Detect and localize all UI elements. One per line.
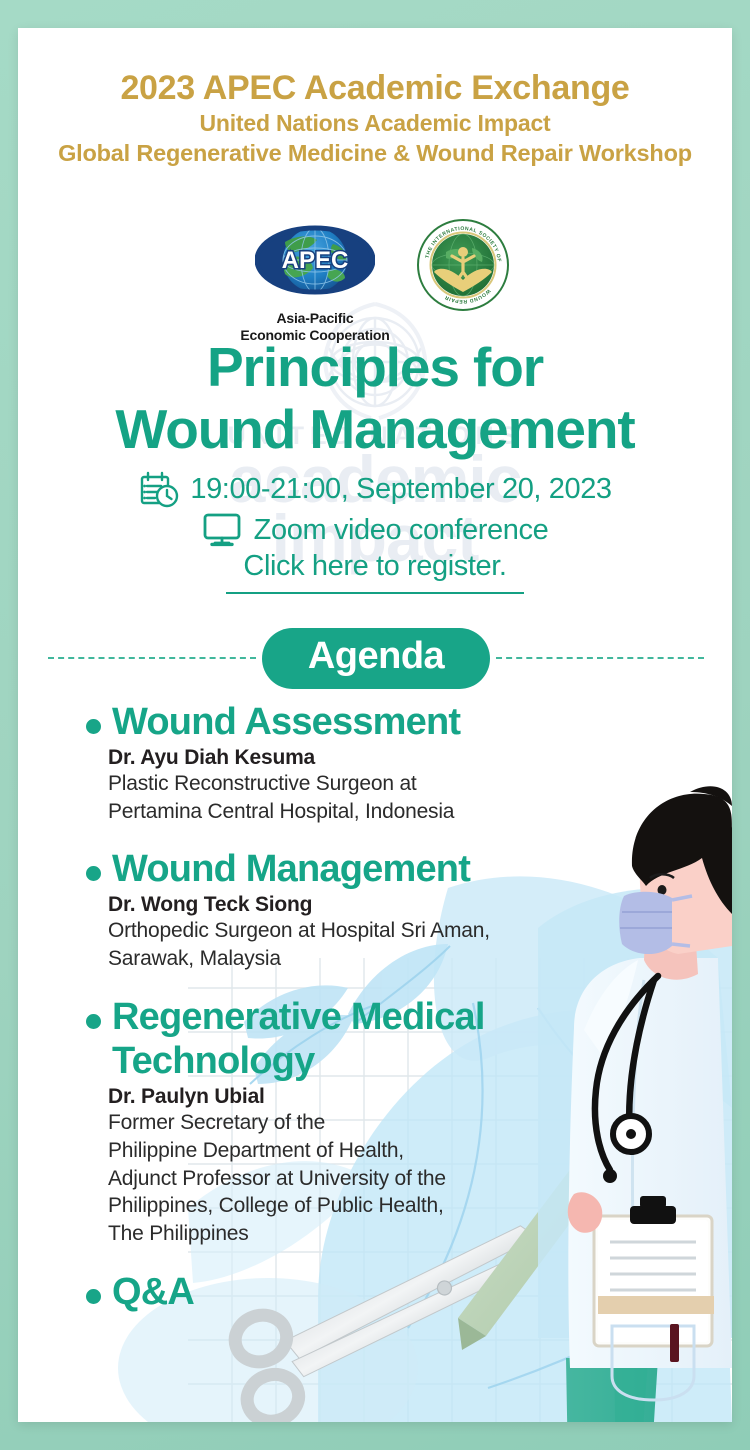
agenda-item-title: Wound Management <box>112 847 470 892</box>
apec-caption-line-1: Asia-Pacific <box>240 310 389 327</box>
speaker-role: Pertamina Central Hospital, Indonesia <box>108 798 712 826</box>
isrmwr-logo: THE INTERNATIONAL SOCIETY OF REGENERATIV… <box>416 218 510 317</box>
agenda-divider: Agenda <box>18 628 732 689</box>
event-subtitle-2: Global Regenerative Medicine & Wound Rep… <box>18 138 732 168</box>
bullet-icon <box>86 866 101 881</box>
speaker-role: The Philippines <box>108 1220 712 1248</box>
agenda-item: Q&A <box>18 1270 732 1315</box>
bullet-icon <box>86 1289 101 1304</box>
agenda-item-title: Regenerative Medical Technology <box>112 995 592 1085</box>
speaker-name: Dr. Wong Teck Siong <box>108 893 712 917</box>
speaker-role: Former Secretary of the <box>108 1109 712 1137</box>
speaker-role: Orthopedic Surgeon at Hospital Sri Aman, <box>108 917 712 945</box>
agenda-item-title: Q&A <box>112 1270 194 1315</box>
speaker-role: Plastic Reconstructive Surgeon at <box>108 770 712 798</box>
agenda-item-title: Wound Assessment <box>112 700 460 745</box>
agenda-item: Wound Assessment Dr. Ayu Diah Kesuma Pla… <box>18 700 732 825</box>
page-title: Principles for Wound Management <box>18 336 732 460</box>
event-datetime: 19:00-21:00, September 20, 2023 <box>190 473 611 506</box>
main-title-line-2: Wound Management <box>18 398 732 460</box>
dashed-line-right <box>496 657 704 659</box>
main-title-line-1: Principles for <box>18 336 732 398</box>
agenda-item: Regenerative Medical Technology Dr. Paul… <box>18 995 732 1248</box>
datetime-row: 19:00-21:00, September 20, 2023 <box>18 468 732 510</box>
apec-globe-icon: APEC <box>255 218 375 302</box>
event-meta: 19:00-21:00, September 20, 2023 Zoom vid… <box>18 468 732 594</box>
speaker-role: Philippine Department of Health, <box>108 1137 712 1165</box>
svg-text:APEC: APEC <box>282 247 349 274</box>
speaker-role: Adjunct Professor at University of the <box>108 1165 712 1193</box>
speaker-name: Dr. Paulyn Ubial <box>108 1085 712 1109</box>
event-platform: Zoom video conference <box>254 514 549 547</box>
event-subtitle-1: United Nations Academic Impact <box>18 109 732 138</box>
bullet-icon <box>86 719 101 734</box>
calendar-clock-icon <box>138 468 180 510</box>
speaker-role: Sarawak, Malaysia <box>108 945 712 973</box>
platform-row: Zoom video conference <box>18 512 732 548</box>
dashed-line-left <box>48 657 256 659</box>
monitor-icon <box>202 512 244 548</box>
poster-root: UNITED NATIONS academic impact 2023 APEC… <box>0 0 750 1450</box>
agenda-badge: Agenda <box>262 628 490 689</box>
isrmwr-seal-icon: THE INTERNATIONAL SOCIETY OF REGENERATIV… <box>416 218 510 312</box>
event-title: 2023 APEC Academic Exchange <box>18 68 732 109</box>
agenda-list: Wound Assessment Dr. Ayu Diah Kesuma Pla… <box>18 700 732 1337</box>
speaker-name: Dr. Ayu Diah Kesuma <box>108 746 712 770</box>
poster-card: UNITED NATIONS academic impact 2023 APEC… <box>18 28 732 1422</box>
speaker-role: Philippines, College of Public Health, <box>108 1192 712 1220</box>
bullet-icon <box>86 1014 101 1029</box>
apec-logo: APEC Asia-Pacific Economic Cooperation <box>240 218 389 343</box>
register-link[interactable]: Click here to register. <box>18 550 732 583</box>
poster-header: 2023 APEC Academic Exchange United Natio… <box>18 68 732 168</box>
register-underline <box>226 592 524 594</box>
logo-row: APEC Asia-Pacific Economic Cooperation <box>18 218 732 343</box>
agenda-item: Wound Management Dr. Wong Teck Siong Ort… <box>18 847 732 972</box>
